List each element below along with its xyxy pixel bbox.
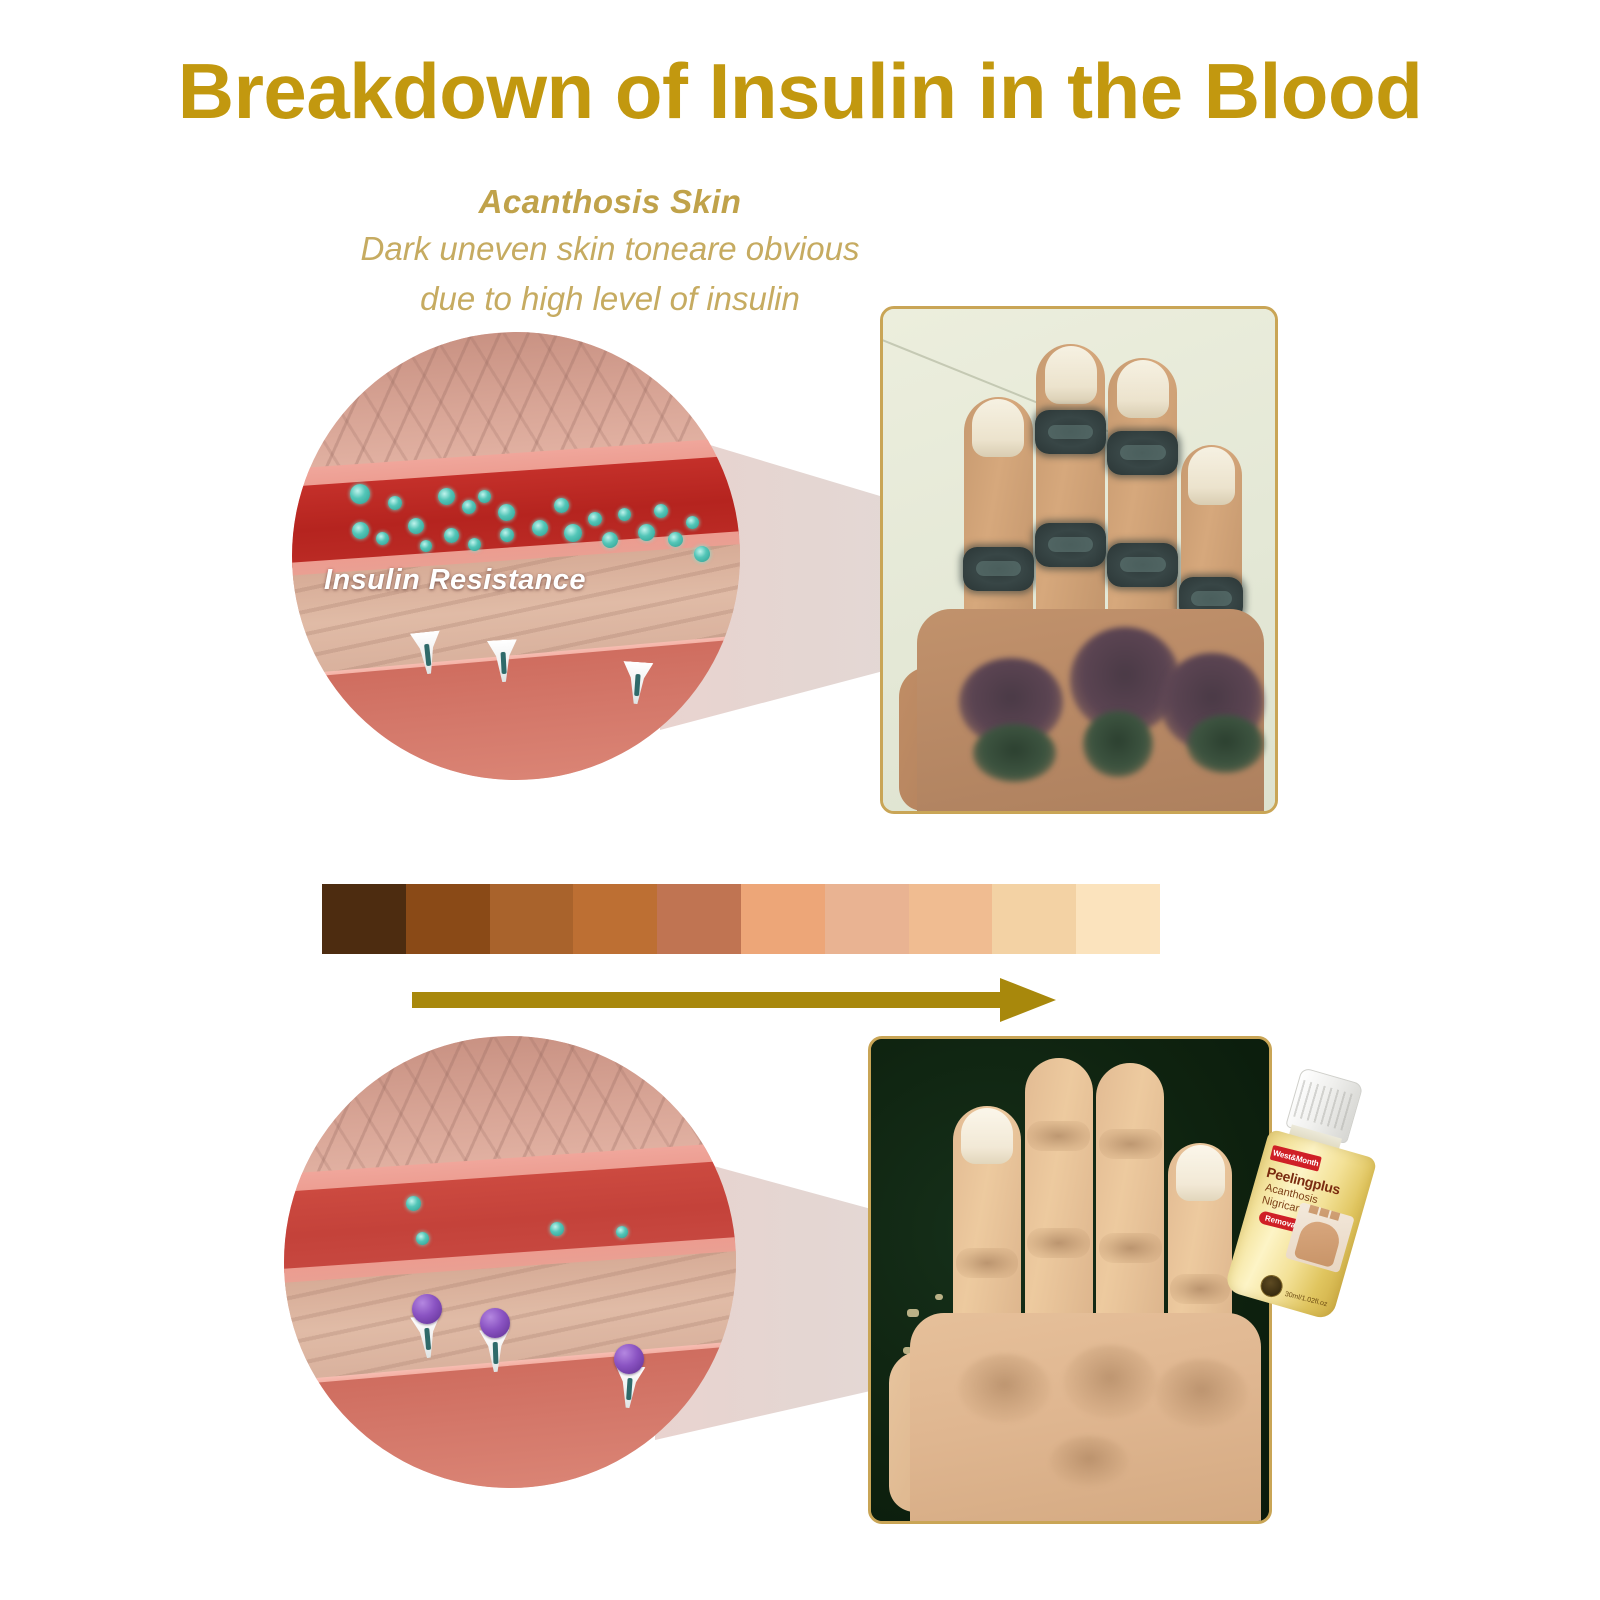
fingernail (1045, 346, 1097, 404)
fingernail (961, 1108, 1013, 1164)
receptor-slit (634, 674, 641, 696)
fingernail (972, 399, 1024, 457)
insulin-molecule-icon (438, 488, 455, 505)
product-seal-icon (1258, 1272, 1285, 1299)
insulin-molecule-icon (416, 1232, 429, 1245)
skin-shading (1156, 1359, 1247, 1427)
tone-swatch (992, 884, 1076, 954)
bound-insulin-icon (614, 1344, 644, 1374)
bound-insulin-icon (480, 1308, 510, 1338)
insulin-molecule-icon (406, 1196, 421, 1211)
mini-hand (1293, 1217, 1343, 1267)
insulin-molecule-icon (588, 512, 602, 526)
subhead-line-2: due to high level of insulin (250, 277, 970, 321)
dark-knuckle-patch (1035, 410, 1106, 454)
normal-insulin-diagram (284, 1036, 736, 1488)
insulin-molecule-icon (350, 484, 370, 504)
knuckle-crease (1099, 1129, 1162, 1159)
tone-swatch (909, 884, 993, 954)
skin-shading (1050, 1436, 1127, 1486)
dark-knuckle-patch (1107, 543, 1178, 587)
finger (1025, 1058, 1093, 1341)
infographic-page: Breakdown of Insulin in the Blood Acanth… (0, 0, 1600, 1600)
knuckle-crease (1027, 1228, 1090, 1258)
insulin-molecule-icon (686, 516, 699, 529)
pigmented-patch (1187, 715, 1263, 773)
insulin-molecule-icon (654, 504, 668, 518)
progress-arrow-icon (412, 978, 1056, 1022)
dark-knuckle-patch (963, 547, 1034, 591)
dark-knuckle-patch (1107, 431, 1178, 475)
receptor-slit (492, 1342, 498, 1364)
tone-swatch (825, 884, 909, 954)
insulin-molecule-icon (694, 546, 710, 562)
fingernail (1176, 1145, 1225, 1201)
insulin-molecule-icon (616, 1226, 628, 1238)
receptor-slit (500, 652, 506, 674)
subhead-line-1: Dark uneven skin toneare obvious (250, 227, 970, 271)
tone-swatch (657, 884, 741, 954)
insulin-molecule-icon (478, 490, 491, 503)
tone-swatch (490, 884, 574, 954)
fingernail (1117, 360, 1169, 418)
receptor-slit (424, 644, 431, 666)
insulin-molecule-icon (462, 500, 476, 514)
insulin-molecule-icon (352, 522, 369, 539)
pigmented-patch (1083, 711, 1152, 778)
insulin-molecule-icon (550, 1222, 564, 1236)
insulin-molecule-icon (638, 524, 655, 541)
skin-shading (1064, 1345, 1155, 1418)
photo-before-treatment (880, 306, 1278, 814)
skin-shading (959, 1354, 1050, 1422)
insulin-molecule-icon (408, 518, 424, 534)
insulin-molecule-icon (618, 508, 631, 521)
subhead-heading: Acanthosis Skin (250, 183, 970, 221)
insulin-molecule-icon (498, 504, 515, 521)
insulin-molecule-icon (532, 520, 548, 536)
dark-knuckle-patch (1035, 523, 1106, 567)
finger (1108, 358, 1177, 638)
hand-back (917, 609, 1263, 814)
hand-illustration-before (907, 339, 1268, 814)
insulin-molecule-icon (564, 524, 582, 542)
finger (1036, 344, 1105, 633)
insulin-molecule-icon (668, 532, 683, 547)
tone-swatch (1076, 884, 1160, 954)
knuckle-crease (956, 1248, 1019, 1278)
fingernail (1188, 447, 1235, 505)
knuckle-crease (1027, 1121, 1090, 1151)
insulin-molecule-icon (388, 496, 402, 510)
insulin-molecule-icon (376, 532, 389, 545)
hand-illustration-after (903, 1058, 1261, 1524)
mini-finger (1330, 1202, 1347, 1221)
hand-back (910, 1313, 1261, 1524)
page-title: Breakdown of Insulin in the Blood (0, 46, 1600, 137)
bound-insulin-icon (412, 1294, 442, 1324)
insulin-molecule-icon (468, 538, 481, 551)
insulin-molecule-icon (554, 498, 569, 513)
subhead-block: Acanthosis Skin Dark uneven skin toneare… (250, 183, 970, 320)
knuckle-crease (1099, 1233, 1162, 1263)
insulin-molecule-icon (602, 532, 618, 548)
tone-swatch (322, 884, 406, 954)
insulin-molecule-icon (420, 540, 432, 552)
insulin-resistance-label: Insulin Resistance (324, 564, 586, 597)
skin-tone-gradient-bar (322, 884, 1160, 954)
receptor-slit (424, 1328, 431, 1350)
pigmented-patch (973, 724, 1056, 782)
product-volume: 30ml/1.02fl.oz (1284, 1291, 1328, 1308)
receptor-slit (626, 1378, 633, 1400)
tone-swatch (741, 884, 825, 954)
insulin-molecule-icon (500, 528, 514, 542)
insulin-molecule-icon (444, 528, 459, 543)
tone-swatch (573, 884, 657, 954)
photo-after-treatment (868, 1036, 1272, 1524)
insulin-resistance-diagram: Insulin Resistance (292, 332, 740, 780)
tone-swatch (406, 884, 490, 954)
finger (1096, 1063, 1164, 1337)
